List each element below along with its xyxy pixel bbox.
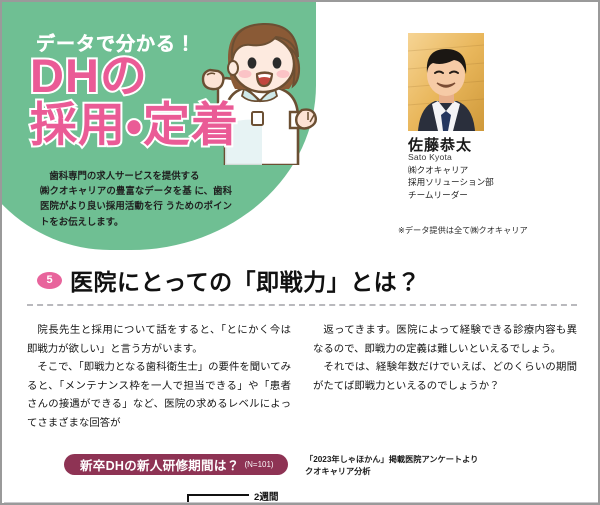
- profile-org-line1: ㈱クオキャリア: [408, 164, 494, 176]
- profile-organization: ㈱クオキャリア 採用ソリューション部 チームリーダー: [408, 164, 494, 201]
- chart-source: 「2023年しゃほかん」掲載医院アンケートより クオキャリア分析: [305, 454, 478, 477]
- article-body: 院長先生と採用について話をすると、「とにかく今は即戦力が欲しい」と言う方がいます…: [27, 322, 577, 440]
- hero-lead-text: 歯科専門の求人サービスを提供する ㈱クオキャリアの豊富なデータを基 に、歯科医院…: [40, 168, 232, 229]
- page-bottom-rule: [4, 502, 600, 504]
- hero-banner: データで分かる！ DHの 採用・定着 歯科専門の求人サービスを提供する ㈱クオキ…: [2, 2, 600, 252]
- profile-org-line2: 採用ソリューション部: [408, 176, 494, 188]
- paragraph: 院長先生と採用について話をすると、「とにかく今は即戦力が欲しい」と言う方がいます…: [27, 322, 291, 359]
- hero-lead-line1: 歯科専門の求人サービスを提供する: [40, 168, 232, 183]
- data-source-note: ※データ提供は全て㈱クオキャリア: [398, 224, 528, 236]
- chart-title-badge: 新卒DHの新人研修期間は？ (N=101): [64, 454, 288, 475]
- leader-horizontal: [187, 494, 249, 496]
- chart-title: 新卒DHの新人研修期間は？: [80, 455, 239, 474]
- section-number-badge: 5: [37, 272, 62, 289]
- paragraph: そこで、「即戦力となる歯科衛生士」の要件を聞いてみると、「メンテナンス枠を一人で…: [27, 359, 291, 433]
- heading-divider: [27, 304, 577, 306]
- body-column-right: 返ってきます。医院によって経験できる診療内容も異なるので、即戦力の定義は難しいと…: [313, 322, 577, 440]
- section-heading: 医院にとっての「即戦力」とは？: [70, 263, 421, 297]
- paragraph: 返ってきます。医院によって経験できる診療内容も異なるので、即戦力の定義は難しいと…: [313, 322, 577, 359]
- chart-source-line1: 「2023年しゃほかん」掲載医院アンケートより: [305, 454, 478, 466]
- chart-sample-size: (N=101): [244, 460, 273, 469]
- callout-leader-line: [187, 494, 249, 505]
- body-column-left: 院長先生と採用について話をすると、「とにかく今は即戦力が欲しい」と言う方がいます…: [27, 322, 291, 440]
- profile-org-line3: チームリーダー: [408, 189, 494, 201]
- chart-source-line2: クオキャリア分析: [305, 466, 478, 478]
- hero-title: DHの 採用・定着: [30, 52, 239, 149]
- hero-title-line2: 採用・定着: [30, 101, 239, 149]
- profile-name-romaji: Sato Kyota: [408, 152, 452, 162]
- paragraph: それでは、経験年数だけでいえば、どのくらいの期間がたてば即戦力といえるのでしょう…: [313, 359, 577, 396]
- hero-lead-line2: ㈱クオキャリアの豊富なデータを基: [40, 185, 192, 196]
- pie-slice-label-2weeks: 2週間: [254, 489, 279, 503]
- avatar-photo: [408, 33, 484, 131]
- magazine-page: データで分かる！ DHの 採用・定着 歯科専門の求人サービスを提供する ㈱クオキ…: [0, 0, 600, 505]
- hero-title-line1: DHの: [30, 49, 148, 102]
